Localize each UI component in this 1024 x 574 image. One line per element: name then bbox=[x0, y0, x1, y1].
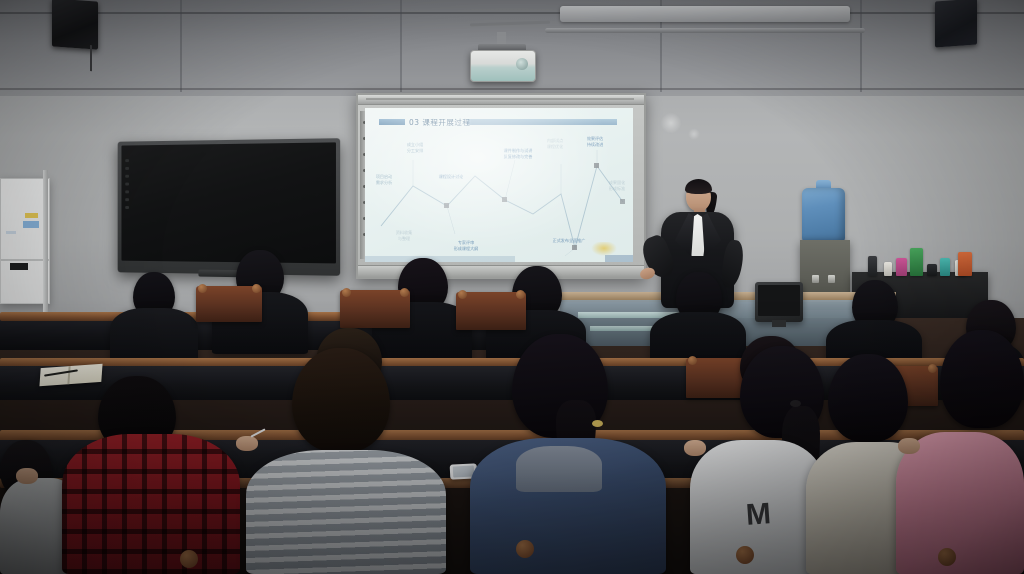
ceiling-seam bbox=[860, 0, 862, 92]
screen-top-rail bbox=[358, 95, 644, 105]
flat-panel-buttons[interactable] bbox=[125, 159, 129, 233]
panel-button[interactable] bbox=[125, 190, 129, 193]
chair-back bbox=[456, 292, 526, 330]
hoodie-print-letter: M bbox=[745, 497, 772, 533]
chart-marker bbox=[572, 245, 577, 250]
chair-knob bbox=[516, 540, 534, 558]
slide-watermark-logo-icon bbox=[591, 242, 617, 256]
flat-panel-screen bbox=[121, 142, 336, 263]
bottle-black bbox=[927, 264, 937, 276]
chair-back bbox=[340, 290, 410, 328]
ceiling-seam bbox=[400, 0, 402, 92]
chart-marker bbox=[502, 197, 507, 202]
desk-computer-monitor[interactable] bbox=[755, 282, 803, 322]
notebook-spine bbox=[67, 366, 70, 384]
chart-node-label: 成果固化 形成标准 bbox=[603, 180, 631, 192]
chair-knob bbox=[688, 356, 697, 365]
chart-node-label: 内部试点 课程优化 bbox=[539, 138, 571, 150]
monitor-stand bbox=[772, 320, 786, 327]
ceiling-conduit bbox=[545, 28, 865, 33]
chart-marker bbox=[594, 163, 599, 168]
notice-board-label bbox=[10, 263, 28, 270]
chair-knob bbox=[198, 284, 207, 293]
chair-knob bbox=[458, 290, 467, 299]
panel-button[interactable] bbox=[125, 206, 129, 209]
chart-node-label: 资料收集 与整理 bbox=[387, 230, 421, 242]
ceiling-light-strip bbox=[560, 6, 850, 22]
slide-footer-band bbox=[365, 256, 515, 262]
chair-knob bbox=[252, 284, 261, 293]
notice-sticky-gray bbox=[6, 231, 16, 234]
presenter-hair bbox=[685, 179, 712, 194]
chair-knob bbox=[928, 364, 937, 373]
title-accent-right bbox=[467, 119, 617, 125]
bottle-white bbox=[884, 262, 892, 276]
student-hand bbox=[16, 468, 38, 484]
panel-button[interactable] bbox=[125, 159, 129, 162]
bottle-dark bbox=[868, 256, 877, 276]
bottle-orange bbox=[958, 252, 972, 276]
projection-screen[interactable]: 03 课程开展过程 bbox=[356, 93, 646, 279]
wall-mounted-flat-panel[interactable] bbox=[118, 138, 340, 276]
chair-knob bbox=[180, 550, 198, 568]
wall-pillar-edge bbox=[43, 170, 48, 316]
bottle-pink bbox=[896, 258, 907, 276]
notice-board-divider bbox=[1, 259, 49, 261]
student-red-plaid bbox=[62, 434, 240, 574]
projected-slide: 03 课程开展过程 bbox=[365, 108, 633, 262]
chart-marker bbox=[620, 199, 625, 204]
slide-title: 03 课程开展过程 bbox=[409, 117, 470, 128]
cooler-tap-cold[interactable] bbox=[812, 275, 819, 283]
hair-tie bbox=[592, 420, 603, 427]
classroom-photo: 03 课程开展过程 bbox=[0, 0, 1024, 574]
slide-title-bar: 03 课程开展过程 bbox=[379, 116, 617, 128]
student-head bbox=[292, 348, 390, 452]
student-hand bbox=[684, 440, 706, 456]
chair-knob bbox=[736, 546, 754, 564]
notice-sticky-yellow bbox=[25, 213, 38, 218]
monitor-screen bbox=[758, 285, 800, 316]
student-pink-sweater bbox=[896, 432, 1024, 574]
student-head bbox=[828, 354, 908, 442]
ceiling-seam bbox=[0, 12, 1024, 14]
chair-knob bbox=[342, 288, 351, 297]
chair-knob bbox=[938, 548, 956, 566]
student-hand bbox=[898, 438, 920, 454]
slide-footer-accent bbox=[605, 255, 633, 262]
chart-node-label: 专家评审 形成课程大纲 bbox=[437, 240, 495, 252]
chart-node-label: 课程设计讨论 bbox=[429, 174, 473, 180]
ceiling-seam bbox=[180, 0, 182, 92]
chart-node-label: 项目启动 需求分析 bbox=[367, 174, 401, 186]
denim-jacket-collar-inner bbox=[516, 446, 602, 492]
left-wall-speaker bbox=[52, 0, 98, 50]
water-cooler-bottle bbox=[802, 188, 845, 242]
chart-node-label: 效果评估 持续改进 bbox=[573, 136, 617, 148]
chart-node-label: 成立小组 分工安排 bbox=[397, 142, 433, 154]
student-head bbox=[940, 330, 1024, 428]
cooler-tap-hot[interactable] bbox=[828, 275, 835, 283]
projector-lens-icon bbox=[516, 58, 528, 70]
student-striped-top bbox=[246, 450, 446, 574]
ceiling-seam bbox=[0, 88, 1024, 90]
right-wall-speaker bbox=[935, 0, 977, 47]
chart-node-label: 正式发布全面推广 bbox=[539, 238, 599, 244]
chair-knob bbox=[516, 290, 525, 299]
panel-button[interactable] bbox=[125, 198, 129, 201]
panel-button[interactable] bbox=[125, 175, 129, 178]
speaker-cable bbox=[90, 45, 92, 71]
panel-button[interactable] bbox=[125, 183, 129, 186]
chart-marker bbox=[444, 203, 449, 208]
bottle-green bbox=[910, 248, 923, 276]
hair-tie bbox=[790, 400, 801, 407]
panel-button[interactable] bbox=[125, 167, 129, 170]
chair-knob bbox=[400, 288, 409, 297]
title-accent-left bbox=[379, 119, 405, 125]
student-hand bbox=[236, 436, 258, 451]
notice-sticky-blue bbox=[23, 221, 39, 228]
cup-teal bbox=[940, 258, 950, 276]
